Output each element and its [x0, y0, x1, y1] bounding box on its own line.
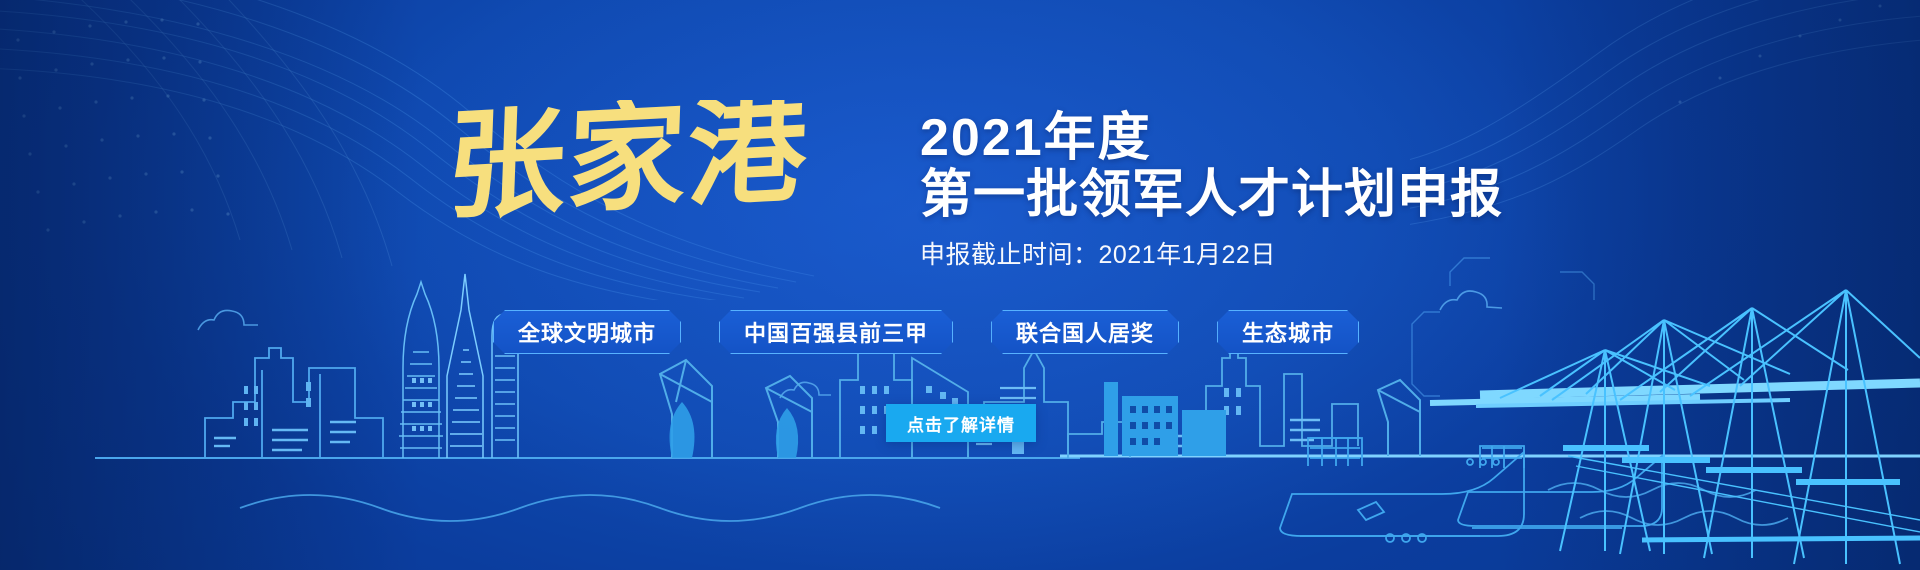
- honor-tag-label: 全球文明城市: [518, 316, 656, 348]
- honor-tag-label: 联合国人居奖: [1016, 316, 1154, 348]
- banner-root: 张家港 2021年度 第一批领军人才计划申报 申报截止时间：2021年1月22日…: [0, 0, 1920, 570]
- city-calligraphy: 张家港: [455, 100, 915, 235]
- honor-tag-1[interactable]: 中国百强县前三甲: [719, 310, 953, 354]
- honor-tag-list: 全球文明城市 中国百强县前三甲 联合国人居奖 生态城市: [493, 310, 1359, 354]
- learn-more-button-label: 点击了解详情: [907, 411, 1015, 436]
- headline-line1: 2021年度: [920, 112, 1503, 165]
- honor-tag-label: 生态城市: [1242, 316, 1334, 348]
- city-calligraphy-text: 张家港: [455, 100, 811, 235]
- headline-line2: 第一批领军人才计划申报: [920, 167, 1503, 223]
- honor-tag-label: 中国百强县前三甲: [744, 316, 928, 348]
- headline-block: 2021年度 第一批领军人才计划申报 申报截止时间：2021年1月22日: [920, 112, 1503, 271]
- banner-content: 张家港 2021年度 第一批领军人才计划申报 申报截止时间：2021年1月22日…: [0, 0, 1920, 570]
- learn-more-button[interactable]: 点击了解详情: [886, 404, 1036, 442]
- deadline-text: 申报截止时间：2021年1月22日: [920, 235, 1503, 271]
- honor-tag-2[interactable]: 联合国人居奖: [991, 310, 1179, 354]
- honor-tag-0[interactable]: 全球文明城市: [493, 310, 681, 354]
- honor-tag-3[interactable]: 生态城市: [1217, 310, 1359, 354]
